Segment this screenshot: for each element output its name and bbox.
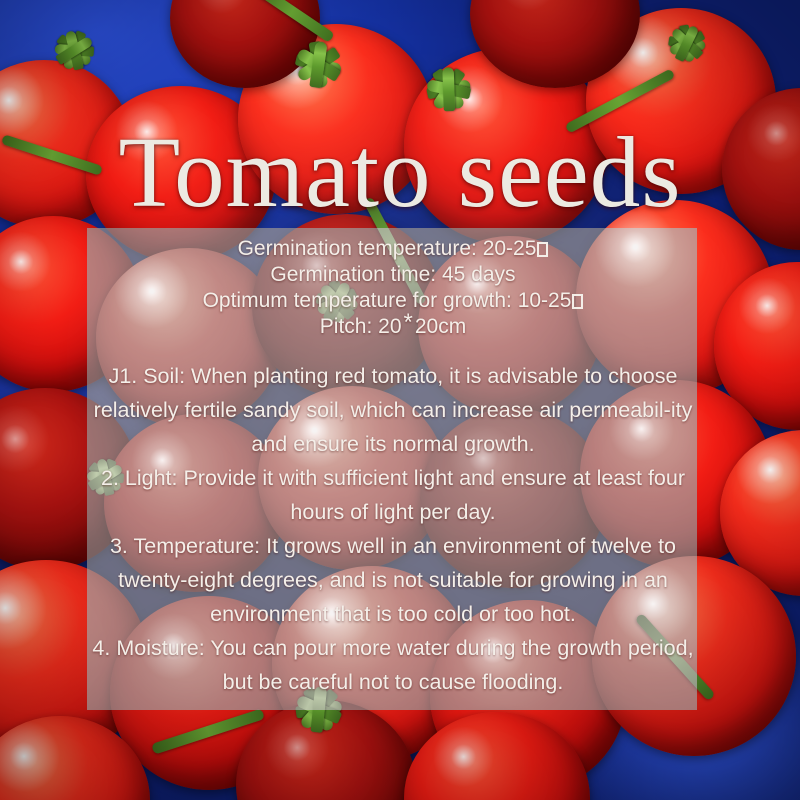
spec-value: 20-25 [483, 237, 537, 260]
spec-value: 45 days [442, 263, 516, 286]
spec-optimum-temperature: Optimum temperature for growth: 10-25 [80, 288, 706, 314]
spec-pitch: Pitch: 20*20cm [80, 314, 706, 340]
seed-specs-list: Germination temperature: 20-25 Germinati… [80, 228, 706, 340]
product-image: Tomato seeds Germination temperature: 20… [0, 0, 800, 800]
spec-label: Pitch: [320, 315, 373, 338]
care-instructions-list: J1. Soil: When planting red tomato, it i… [80, 359, 706, 699]
care-instruction-temperature: 3. Temperature: It grows well in an envi… [80, 529, 706, 631]
care-instruction-moisture: 4. Moisture: You can pour more water dur… [80, 631, 706, 699]
spec-label: Germination temperature: [238, 237, 477, 260]
missing-glyph-box-icon [572, 294, 583, 309]
spec-value: 10-25 [518, 289, 572, 312]
page-title: Tomato seeds [0, 122, 800, 223]
spec-germination-temperature: Germination temperature: 20-25 [80, 236, 706, 262]
missing-glyph-box-icon [537, 242, 548, 257]
spec-germination-time: Germination time: 45 days [80, 262, 706, 288]
spec-value-a: 20 [378, 315, 401, 338]
care-instruction-soil: J1. Soil: When planting red tomato, it i… [80, 359, 706, 461]
spec-value-b: 20cm [415, 315, 466, 338]
info-text-block: Germination temperature: 20-25 Germinati… [80, 228, 706, 699]
spec-label: Optimum temperature for growth: [203, 289, 512, 312]
spec-label: Germination time: [270, 263, 436, 286]
care-instruction-light: 2. Light: Provide it with sufficient lig… [80, 461, 706, 529]
